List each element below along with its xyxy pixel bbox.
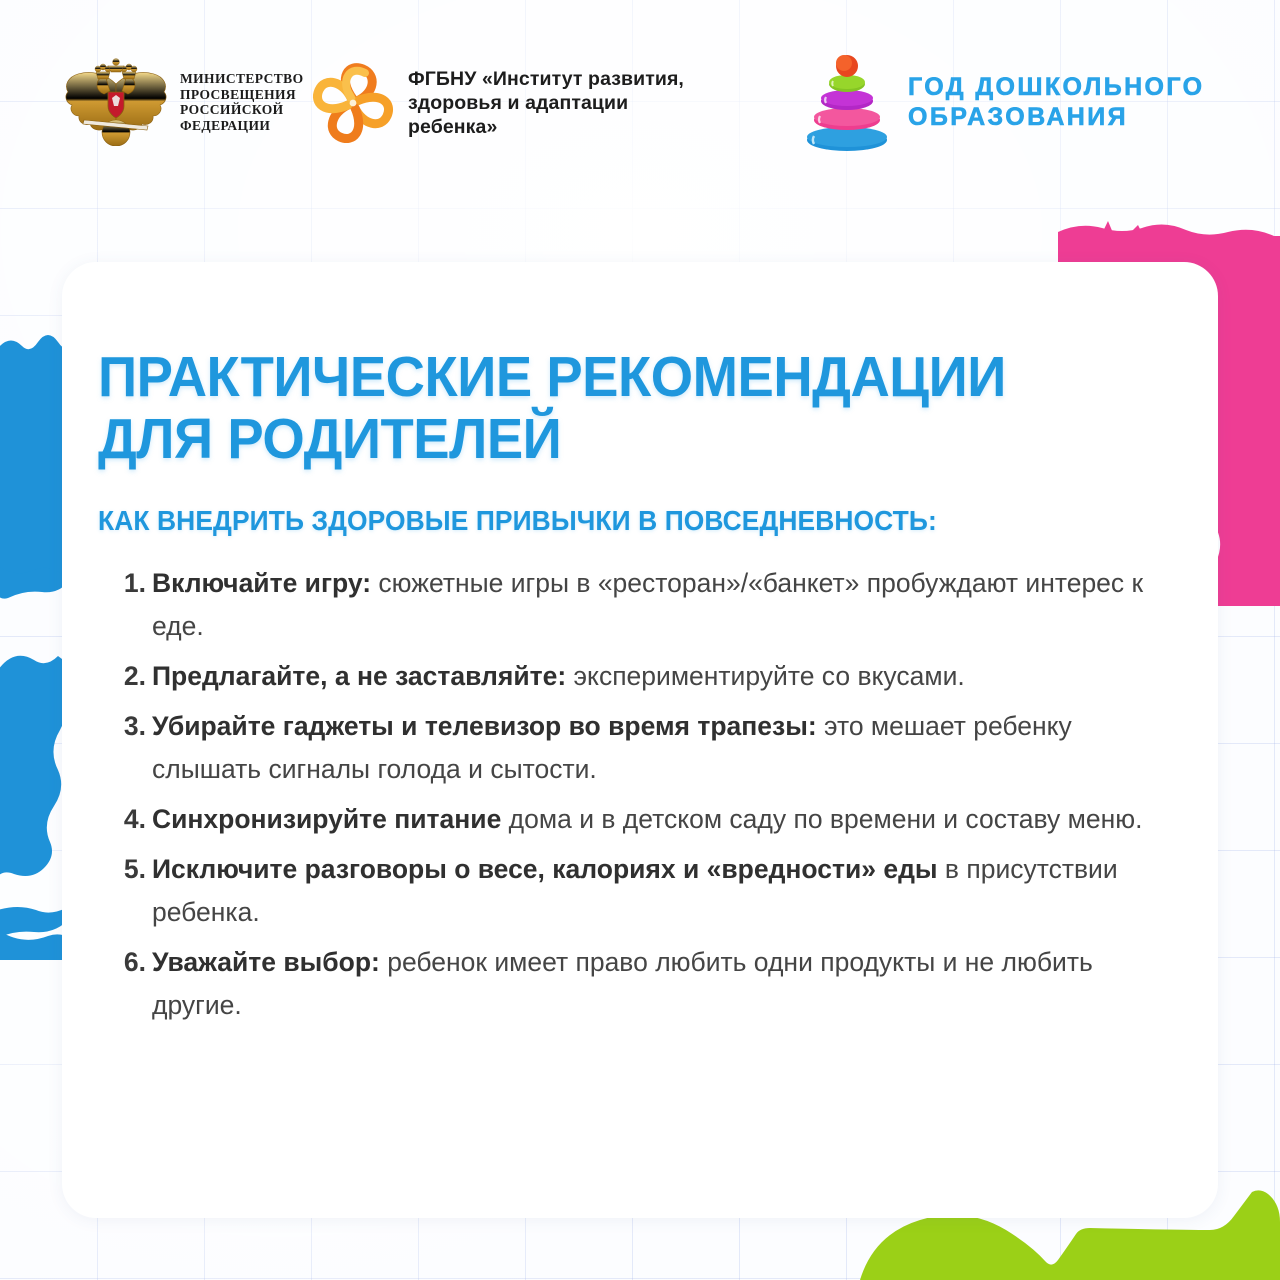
recommendation-lead: Включайте игру: bbox=[152, 568, 371, 598]
stacking-rings-pyramid-toy-icon bbox=[800, 52, 894, 152]
recommendation-lead: Убирайте гаджеты и телевизор во время тр… bbox=[152, 711, 817, 741]
recommendation-item: Предлагайте, а не заставляйте: экспериме… bbox=[98, 655, 1188, 698]
recommendation-item: Исключите разговоры о весе, калориях и «… bbox=[98, 848, 1188, 934]
recommendation-rest: экспериментируйте со вкусами. bbox=[566, 661, 965, 691]
poster-canvas: МИНИСТЕРСТВО ПРОСВЕЩЕНИЯ РОССИЙСКОЙ ФЕДЕ… bbox=[0, 0, 1280, 1280]
recommendation-item: Убирайте гаджеты и телевизор во время тр… bbox=[98, 705, 1188, 791]
ministry-logo-label: МИНИСТЕРСТВО ПРОСВЕЩЕНИЯ РОССИЙСКОЙ ФЕДЕ… bbox=[180, 71, 303, 133]
institute-logo-label: ФГБНУ «Институт развития, здоровья и ада… bbox=[408, 67, 684, 139]
orange-pinwheel-flower-logo bbox=[310, 60, 396, 146]
recommendation-lead: Синхронизируйте питание bbox=[152, 804, 501, 834]
recommendation-lead: Уважайте выбор: bbox=[152, 947, 380, 977]
year-logo-label: ГОД ДОШКОЛЬНОГО ОБРАЗОВАНИЯ bbox=[908, 72, 1204, 132]
recommendation-item: Уважайте выбор: ребенок имеет право люби… bbox=[98, 941, 1188, 1027]
ministry-logo-block: МИНИСТЕРСТВО ПРОСВЕЩЕНИЯ РОССИЙСКОЙ ФЕДЕ… bbox=[62, 58, 303, 146]
recommendation-item: Включайте игру: сюжетные игры в «рестора… bbox=[98, 562, 1188, 648]
recommendation-rest: дома и в детском саду по времени и соста… bbox=[501, 804, 1142, 834]
year-logo-block: ГОД ДОШКОЛЬНОГО ОБРАЗОВАНИЯ bbox=[800, 52, 1204, 152]
page-subtitle: КАК ВНЕДРИТЬ ЗДОРОВЫЕ ПРИВЫЧКИ В ПОВСЕДН… bbox=[98, 504, 1144, 538]
page-title: ПРАКТИЧЕСКИЕ РЕКОМЕНДАЦИИ ДЛЯ РОДИТЕЛЕЙ bbox=[98, 346, 1139, 470]
recommendation-item: Синхронизируйте питание дома и в детском… bbox=[98, 798, 1188, 841]
poster-header: МИНИСТЕРСТВО ПРОСВЕЩЕНИЯ РОССИЙСКОЙ ФЕДЕ… bbox=[0, 0, 1280, 170]
recommendations-list: Включайте игру: сюжетные игры в «рестора… bbox=[98, 562, 1188, 1027]
recommendation-lead: Исключите разговоры о весе, калориях и «… bbox=[152, 854, 938, 884]
russian-federation-double-headed-eagle-emblem bbox=[62, 58, 170, 146]
content-card: ПРАКТИЧЕСКИЕ РЕКОМЕНДАЦИИ ДЛЯ РОДИТЕЛЕЙ … bbox=[62, 262, 1218, 1218]
institute-logo-block: ФГБНУ «Институт развития, здоровья и ада… bbox=[310, 60, 684, 146]
recommendation-lead: Предлагайте, а не заставляйте: bbox=[152, 661, 566, 691]
